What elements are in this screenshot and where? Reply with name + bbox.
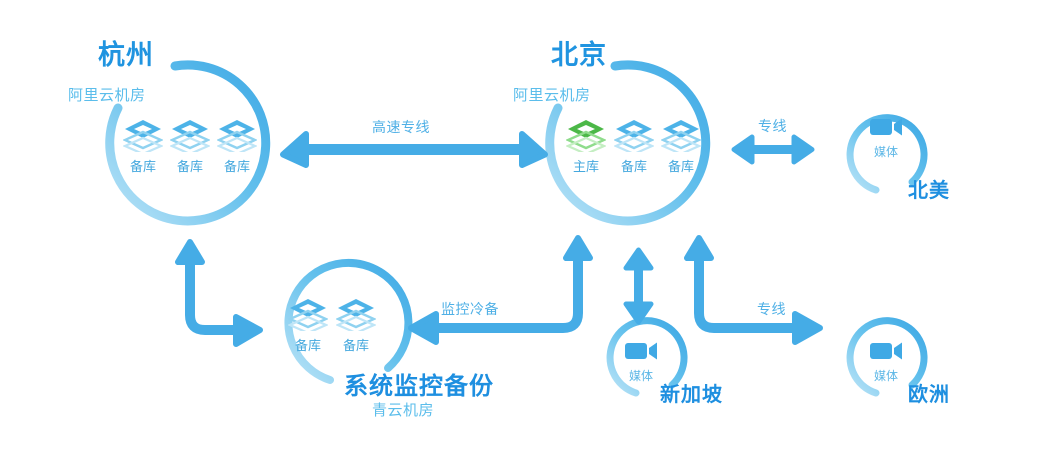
video-camera-icon <box>869 115 903 139</box>
database-stack-icon <box>170 118 210 152</box>
beijing-db-1-label: 备库 <box>612 156 656 175</box>
hangzhou-subtitle: 阿里云机房 <box>68 84 146 105</box>
link-monitor-hangzhou <box>178 242 260 344</box>
hangzhou-title: 杭州 <box>98 33 154 72</box>
beijing-db-2-label: 备库 <box>659 156 703 175</box>
north-america-title: 北美 <box>908 174 950 203</box>
singapore-media-label: 媒体 <box>621 367 661 384</box>
singapore-title: 新加坡 <box>660 378 723 407</box>
link-label-beijing-north-america: 专线 <box>758 116 787 136</box>
monitor-backup-subtitle: 青云机房 <box>372 399 434 420</box>
link-beijing-monitor <box>411 238 590 342</box>
database-stack-icon <box>217 118 257 152</box>
europe-media-label: 媒体 <box>866 367 906 384</box>
link-label-hangzhou-beijing: 高速专线 <box>372 117 430 137</box>
beijing-title: 北京 <box>551 33 607 72</box>
europe-title: 欧洲 <box>908 378 950 407</box>
database-stack-icon <box>336 297 376 331</box>
database-stack-icon <box>288 297 328 331</box>
video-camera-icon <box>869 339 903 363</box>
database-stack-icon <box>123 118 163 152</box>
database-stack-icon <box>614 118 654 152</box>
diagram-canvas: 杭州 阿里云机房 备库 备库 备库 北京 阿里云机房 <box>0 0 1045 449</box>
video-camera-icon <box>624 339 658 363</box>
hangzhou-db-2-label: 备库 <box>215 156 259 175</box>
beijing-subtitle: 阿里云机房 <box>513 84 591 105</box>
monitor-backup-title: 系统监控备份 <box>344 366 494 401</box>
monitor-db-0-label: 备库 <box>286 335 330 354</box>
database-stack-icon <box>661 118 701 152</box>
beijing-db-0-label: 主库 <box>564 156 608 175</box>
north-america-media-label: 媒体 <box>866 143 906 160</box>
monitor-db-1-label: 备库 <box>334 335 378 354</box>
database-stack-master-icon <box>566 118 606 152</box>
hangzhou-db-0-label: 备库 <box>121 156 165 175</box>
link-beijing-north-america <box>734 137 812 162</box>
hangzhou-db-1-label: 备库 <box>168 156 212 175</box>
link-beijing-europe <box>687 238 820 342</box>
link-label-beijing-monitor: 监控冷备 <box>441 299 499 319</box>
link-label-beijing-europe: 专线 <box>757 299 786 319</box>
link-beijing-singapore <box>626 250 651 322</box>
link-hangzhou-beijing <box>283 134 545 165</box>
